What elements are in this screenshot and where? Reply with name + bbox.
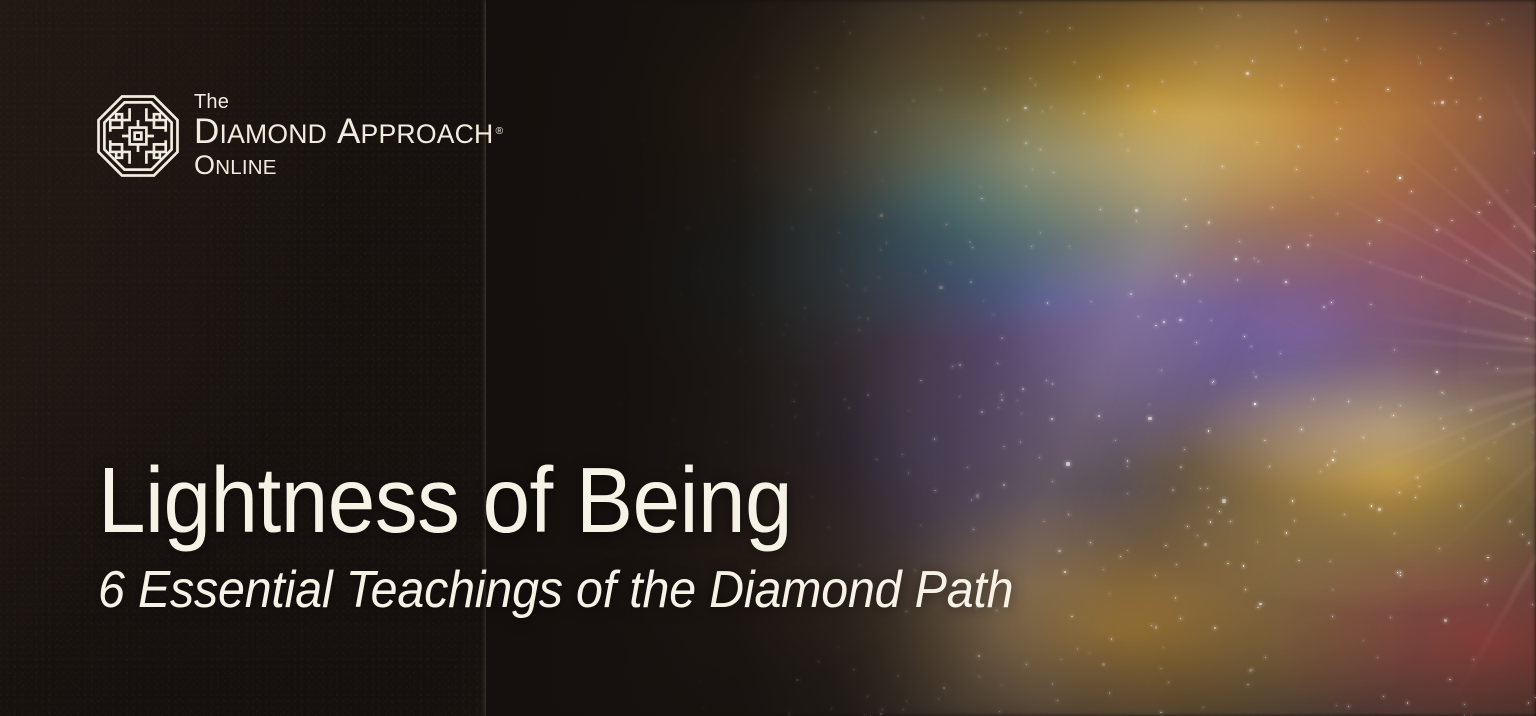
registered-trademark-icon: ® [495, 125, 503, 137]
logo-wordmark: The DIAMOND APPROACH® ONLINE [194, 92, 503, 179]
logo-line-the: The [194, 92, 503, 112]
page-subtitle: 6 Essential Teachings of the Diamond Pat… [98, 561, 1013, 619]
octagon-knot-icon [96, 94, 180, 178]
headline-block: Lightness of Being 6 Essential Teachings… [98, 452, 1082, 619]
brand-logo[interactable]: The DIAMOND APPROACH® ONLINE [96, 92, 503, 179]
page-title: Lightness of Being [98, 452, 1004, 549]
promo-banner: The DIAMOND APPROACH® ONLINE Lightness o… [0, 0, 1536, 716]
logo-line-diamond-approach: DIAMOND APPROACH® [194, 114, 503, 149]
logo-line-online: ONLINE [194, 152, 503, 179]
